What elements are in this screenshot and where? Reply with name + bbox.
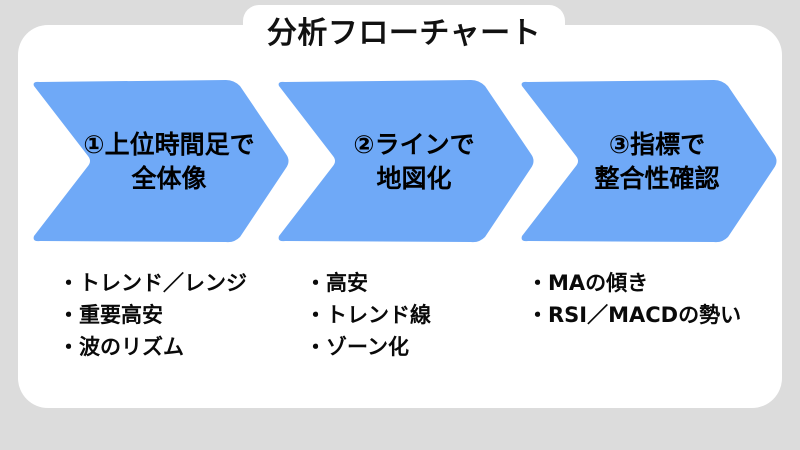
list-item: ・RSI／MACDの勢い <box>527 300 741 332</box>
list-item: ・波のリズム <box>58 332 247 364</box>
chevron-shape-icon <box>518 80 778 243</box>
chevron-shape-icon <box>275 80 535 243</box>
list-item: ・高安 <box>305 268 431 300</box>
page-title: 分析フローチャート <box>267 19 541 49</box>
list-item: ・ゾーン化 <box>305 332 431 364</box>
flow-step-1[interactable]: ①上位時間足で 全体像 <box>30 80 290 243</box>
flowchart-canvas: 分析フローチャート ①上位時間足で 全体像 ②ラインで 地図化 <box>0 0 800 450</box>
flow-step-2[interactable]: ②ラインで 地図化 <box>275 80 535 243</box>
flow-step-1-bullets: ・トレンド／レンジ ・重要高安 ・波のリズム <box>58 268 247 364</box>
chevron-row: ①上位時間足で 全体像 ②ラインで 地図化 ③指標で 整合性確認 <box>0 80 800 243</box>
list-item: ・MAの傾き <box>527 268 741 300</box>
list-item: ・トレンド／レンジ <box>58 268 247 300</box>
flow-step-3-bullets: ・MAの傾き ・RSI／MACDの勢い <box>527 268 741 332</box>
list-item: ・トレンド線 <box>305 300 431 332</box>
flow-step-3[interactable]: ③指標で 整合性確認 <box>518 80 778 243</box>
title-banner: 分析フローチャート <box>243 5 565 61</box>
flow-step-2-bullets: ・高安 ・トレンド線 ・ゾーン化 <box>305 268 431 364</box>
chevron-shape-icon <box>30 80 290 243</box>
list-item: ・重要高安 <box>58 300 247 332</box>
